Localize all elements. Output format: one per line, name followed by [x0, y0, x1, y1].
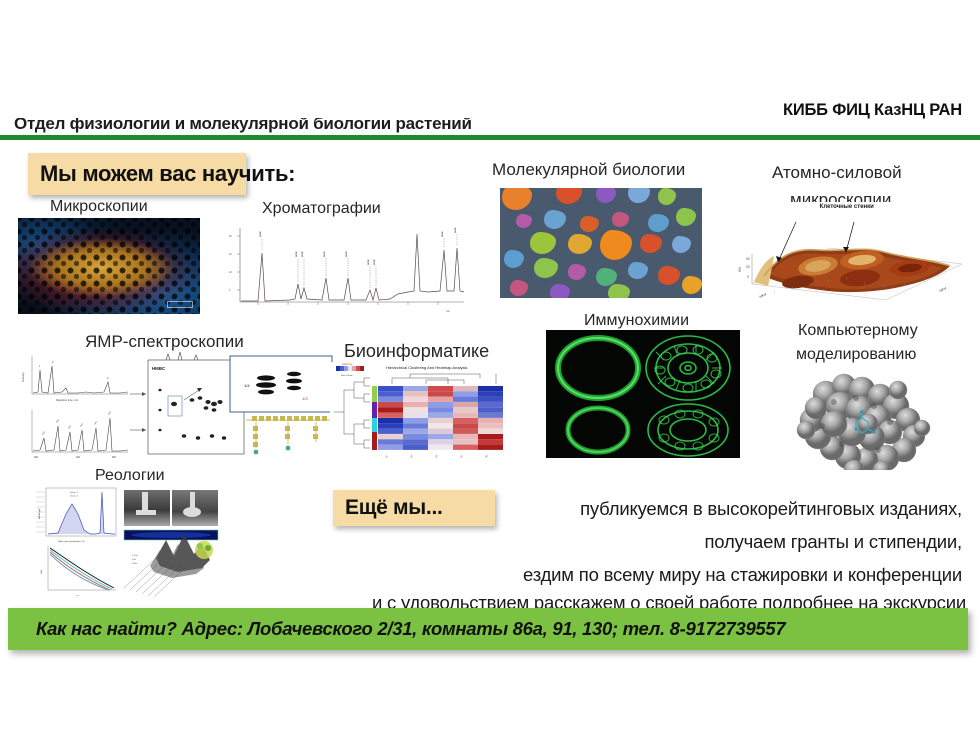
molecule-blob	[676, 208, 696, 226]
svg-text:НМ: НМ	[738, 267, 742, 272]
svg-text:m/z: m/z	[41, 430, 46, 436]
svg-text:s4: s4	[459, 454, 464, 459]
molecule-blob	[658, 188, 676, 205]
svg-text:peak: peak	[258, 231, 262, 237]
figure-afm-surface: Клеточные стенки	[734, 202, 972, 306]
svg-text:1 Hz: 1 Hz	[132, 559, 136, 561]
molecule-blob	[672, 236, 691, 253]
contact-banner-text: Как нас найти? Адрес: Лобачевского 2/31,…	[36, 618, 785, 640]
paragraph-line-2: получаем гранты и стипендии,	[704, 531, 962, 553]
afm-annotation-label: Клеточные стенки	[820, 204, 874, 210]
molecule-blob	[530, 232, 556, 254]
molecule-blob	[556, 188, 582, 204]
molecule-blob	[600, 230, 632, 260]
figure-protein-model	[782, 366, 948, 470]
figure-bioinformatics-heatmap: Hierarchical Clustering And Heatmap Anal…	[330, 362, 520, 460]
heatmap-title: Hierarchical Clustering And Heatmap Anal…	[386, 365, 467, 370]
molecule-blob	[510, 280, 528, 296]
contact-banner: Как нас найти? Адрес: Лобачевского 2/31,…	[8, 608, 968, 650]
molecule-blob	[580, 216, 599, 232]
slide-canvas: КИББ ФИЦ КазНЦ РАН Отдел физиологии и мо…	[0, 0, 980, 735]
svg-text:m/z: m/z	[93, 420, 98, 426]
nmr-panels: 123 Retention time, min Intensity m/z m/…	[16, 352, 334, 460]
svg-text:Intensity: Intensity	[21, 372, 25, 382]
svg-text:3: 3	[107, 376, 109, 380]
svg-text:20: 20	[746, 265, 750, 269]
svg-text:МКМ: МКМ	[939, 286, 947, 293]
svg-text:1/4: 1/4	[244, 383, 250, 388]
svg-text:HMBC: HMBC	[152, 366, 166, 371]
figure-rheology-composite: Series 1 Series 2 Molar mass distributio…	[32, 484, 222, 598]
svg-text:s2: s2	[409, 454, 414, 459]
molecule-blob	[682, 276, 702, 294]
svg-text:0.1 Hz: 0.1 Hz	[132, 555, 138, 557]
rheology-panels: Series 1 Series 2 Molar mass distributio…	[32, 484, 222, 598]
svg-text:0: 0	[229, 289, 231, 292]
caption-modeling-line2: моделированию	[796, 346, 916, 364]
molecule-blob	[516, 214, 532, 228]
header-green-rule	[0, 135, 980, 140]
svg-text:peak: peak	[322, 251, 326, 257]
caption-microscopy: Микроскопии	[50, 198, 148, 216]
svg-text:peak: peak	[300, 251, 304, 257]
caption-nmr: ЯМР-спектроскопии	[85, 332, 244, 352]
figure-molecular-biology-illustration	[500, 188, 702, 298]
callout-we-can-teach: Мы можем вас научить:	[28, 153, 246, 195]
svg-text:m/z: m/z	[55, 418, 60, 424]
svg-text:Series 1: Series 1	[70, 491, 79, 494]
afm-3d-plot: НМ МКМ МКМ 40200	[734, 202, 972, 306]
molecule-blob	[504, 250, 524, 268]
svg-text:m/z: m/z	[67, 424, 72, 430]
paragraph-line-3: ездим по всему миру на стажировки и конф…	[523, 564, 962, 586]
svg-text:m/z: m/z	[79, 422, 84, 428]
svg-text:Series 2: Series 2	[70, 495, 79, 498]
figure-chromatogram: peak peak peak peak peak peak peak peak …	[218, 222, 468, 314]
svg-text:0: 0	[747, 275, 749, 279]
heatmap-plot: Color Key Row Z-Score	[330, 362, 520, 460]
svg-text:1: 1	[39, 364, 41, 368]
svg-text:600: 600	[112, 456, 117, 459]
caption-afm-line1: Атомно-силовой	[772, 163, 902, 183]
molecule-blob	[628, 188, 650, 203]
svg-text:min: min	[446, 310, 451, 313]
svg-text:dW/dLogM: dW/dLogM	[39, 508, 41, 519]
molecule-blob	[648, 214, 669, 232]
svg-text:40: 40	[229, 253, 232, 256]
molecule-blob	[568, 264, 586, 280]
svg-text:s3: s3	[434, 454, 439, 459]
department-title: Отдел физиологии и молекулярной биологии…	[14, 118, 472, 134]
figure-immunochemistry-confocal	[546, 330, 740, 458]
figure-nmr-composite: 123 Retention time, min Intensity m/z m/…	[16, 352, 334, 460]
molecule-blob	[612, 212, 629, 227]
svg-text:10 Hz: 10 Hz	[132, 563, 137, 565]
svg-text:peak: peak	[372, 259, 376, 265]
svg-text:peak: peak	[440, 231, 444, 237]
molecule-blob	[550, 284, 570, 298]
svg-text:peak: peak	[453, 227, 457, 233]
molecule-blob	[640, 234, 662, 253]
svg-text:G(t): G(t)	[40, 570, 43, 574]
molecule-blob	[544, 210, 566, 229]
svg-text:400: 400	[76, 456, 81, 459]
svg-text:20: 20	[229, 271, 232, 274]
molecule-blob	[596, 188, 616, 203]
figure-microscopy-image	[18, 218, 200, 314]
protein-surface-model	[782, 366, 948, 470]
caption-modeling-line1: Компьютерному	[798, 322, 918, 340]
caption-rheology: Реологии	[95, 467, 165, 485]
svg-text:m/z: m/z	[107, 410, 112, 416]
caption-bioinformatics: Биоинформатике	[344, 341, 489, 362]
svg-text:s5: s5	[484, 454, 489, 459]
molecule-blob	[658, 266, 680, 285]
svg-text:peak: peak	[294, 251, 298, 257]
svg-text:200: 200	[34, 456, 39, 459]
caption-immunochemistry: Иммунохимии	[584, 312, 689, 330]
molecule-blob	[568, 234, 592, 254]
microscopy-cell-lattice-offset	[18, 218, 200, 314]
svg-text:peak: peak	[366, 259, 370, 265]
molecule-blob	[608, 284, 630, 298]
confocal-image	[546, 330, 740, 458]
caption-chromatography: Хроматографии	[262, 200, 381, 218]
microscopy-scalebar	[167, 301, 193, 308]
svg-text:Retention time, min: Retention time, min	[56, 398, 79, 402]
chromatogram-plot: peak peak peak peak peak peak peak peak …	[218, 222, 468, 314]
svg-text:1/3: 1/3	[302, 396, 308, 401]
svg-text:Color Key: Color Key	[342, 363, 353, 366]
svg-text:40: 40	[746, 257, 750, 261]
svg-text:peak: peak	[344, 251, 348, 257]
callout-also-we: Ещё мы...	[333, 490, 495, 526]
paragraph-line-1: публикуемся в высокорейтинговых изданиях…	[580, 498, 962, 520]
svg-text:Molar mass distribution, Da: Molar mass distribution, Da	[58, 540, 85, 543]
svg-text:2: 2	[52, 360, 54, 364]
svg-text:60: 60	[229, 235, 232, 238]
molecule-blob	[534, 258, 558, 278]
caption-molecular-biology: Молекулярной биологии	[492, 160, 685, 180]
molecule-blob	[628, 262, 648, 279]
svg-text:Row Z-Score: Row Z-Score	[341, 375, 354, 377]
svg-text:s1: s1	[384, 454, 389, 459]
svg-text:МКМ: МКМ	[759, 292, 767, 299]
molecule-blob	[502, 188, 532, 210]
